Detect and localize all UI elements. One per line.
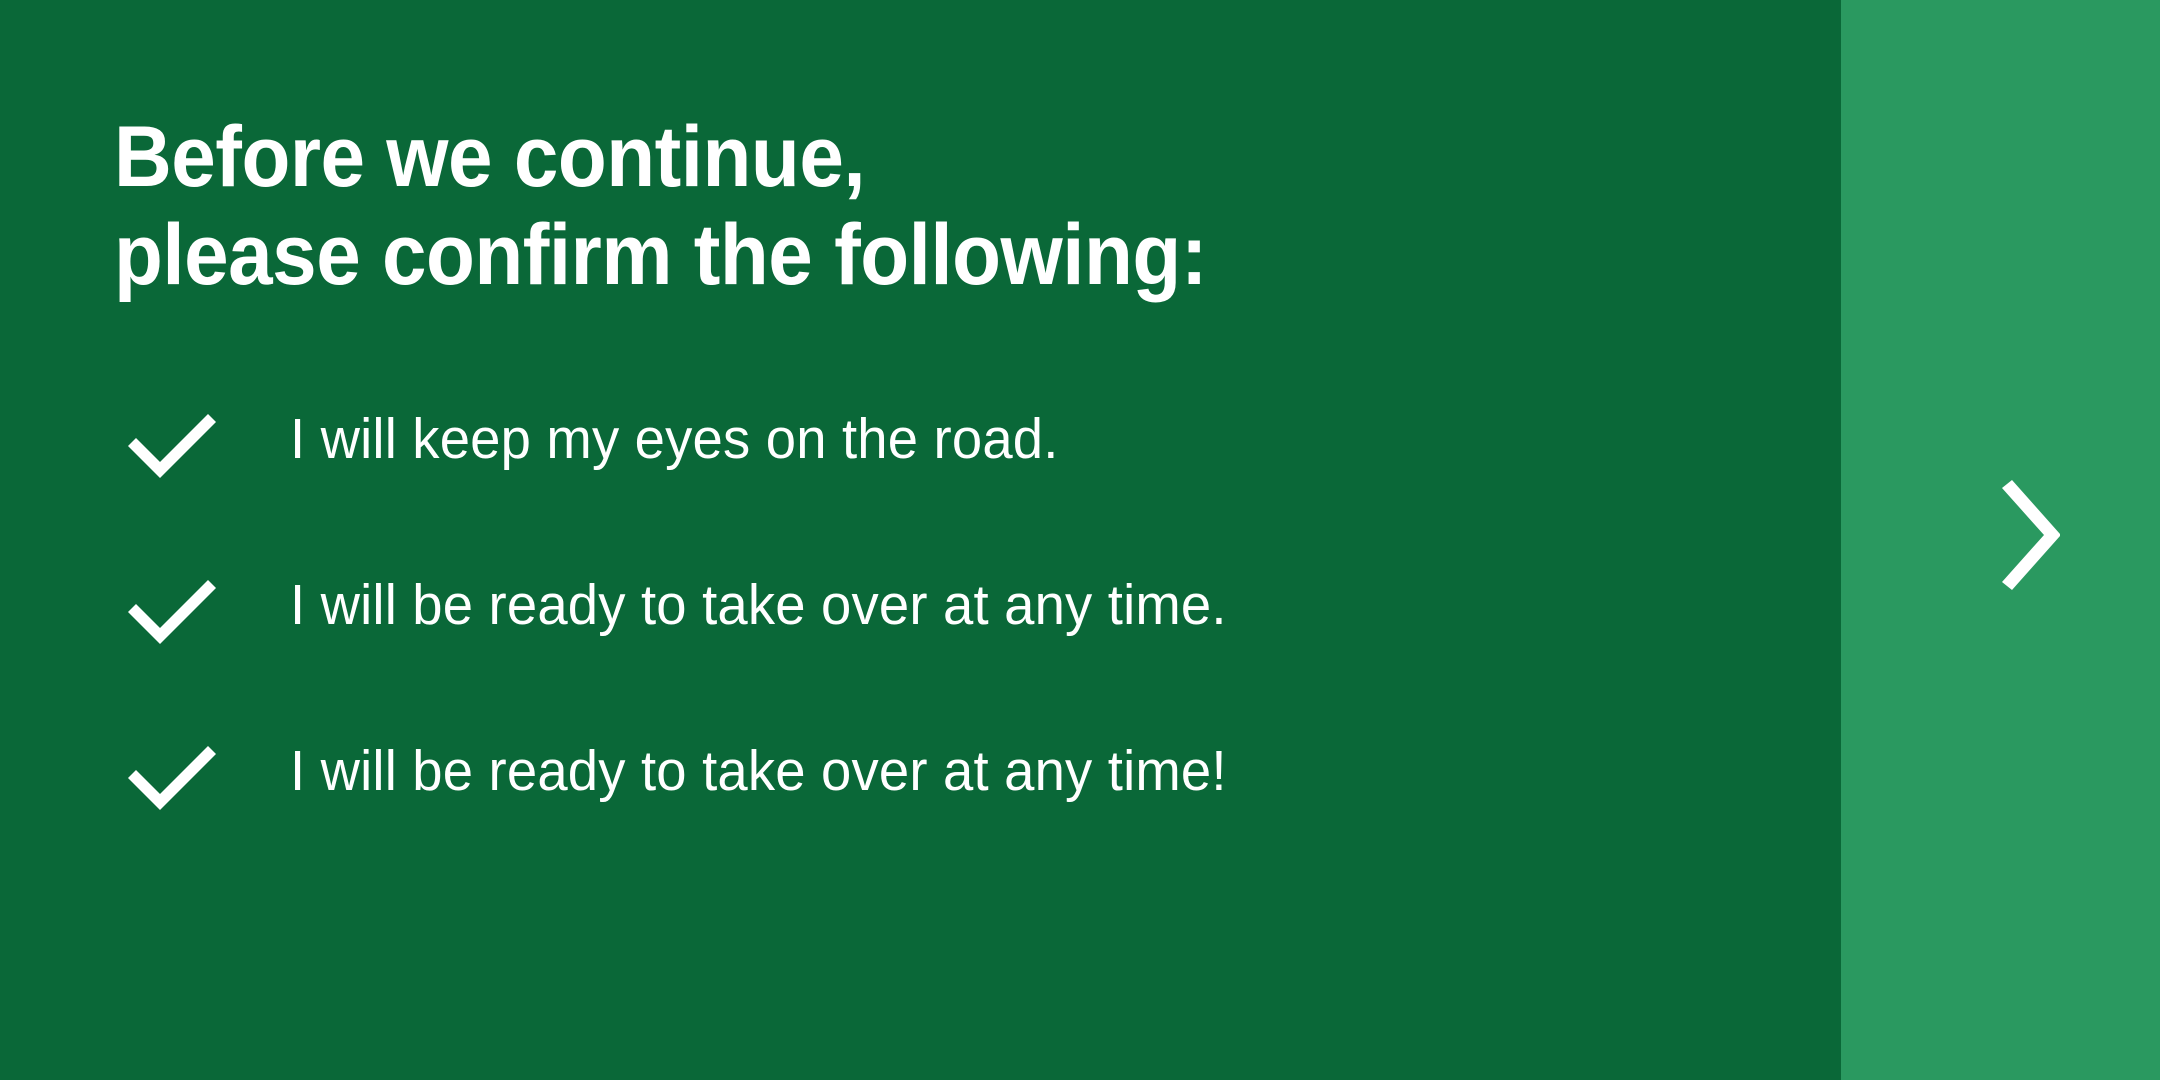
confirmation-screen: Before we continue, please confirm the f… (0, 0, 2160, 1080)
checklist-item[interactable]: I will be ready to take over at any time… (114, 564, 1764, 730)
checklist-item[interactable]: I will keep my eyes on the road. (114, 398, 1764, 564)
checklist-item-label: I will be ready to take over at any time… (290, 730, 1227, 812)
next-button[interactable] (1841, 0, 2160, 1080)
check-icon (124, 570, 220, 650)
page-title: Before we continue, please confirm the f… (114, 108, 1602, 304)
checklist-item-label: I will keep my eyes on the road. (290, 398, 1059, 480)
chevron-right-icon (1970, 480, 2090, 590)
confirmation-checklist: I will keep my eyes on the road. I will … (114, 398, 1764, 896)
check-icon (124, 736, 220, 816)
content-panel: Before we continue, please confirm the f… (0, 0, 1841, 1080)
page-title-line-1: Before we continue, (114, 108, 1602, 206)
checklist-item-label: I will be ready to take over at any time… (290, 564, 1227, 646)
checklist-item[interactable]: I will be ready to take over at any time… (114, 730, 1764, 896)
check-icon (124, 404, 220, 484)
page-title-line-2: please confirm the following: (114, 206, 1602, 304)
